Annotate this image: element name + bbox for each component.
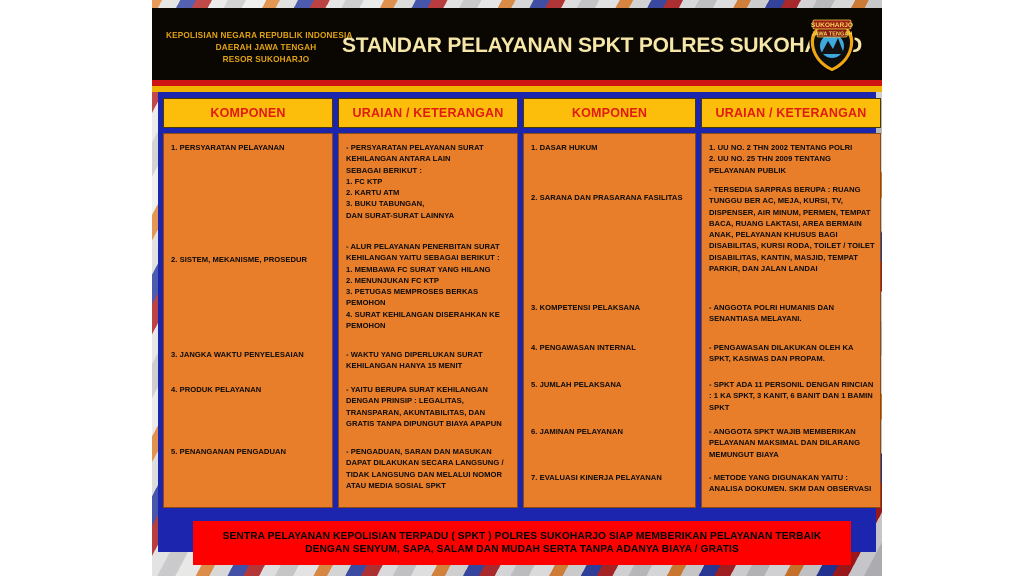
list-item: - YAITU BERUPA SURAT KEHILANGAN DENGAN P… <box>346 384 512 429</box>
list-item: 3. KOMPETENSI PELAKSANA <box>531 302 690 313</box>
footer-line-1: SENTRA PELAYANAN KEPOLISIAN TERPADU ( SP… <box>223 531 822 542</box>
list-item: - WAKTU YANG DIPERLUKAN SURAT KEHILANGAN… <box>346 349 512 372</box>
list-item: - ANGGOTA POLRI HUMANIS DAN SENANTIASA M… <box>709 302 875 325</box>
kop-line-2: DAERAH JAWA TENGAH <box>166 42 366 54</box>
list-item: 1. DASAR HUKUM <box>531 142 690 153</box>
header-bar: KEPOLISIAN NEGARA REPUBLIK INDONESIA DAE… <box>152 8 882 80</box>
list-item: - METODE YANG DIGUNAKAN YAITU : ANALISA … <box>709 472 875 495</box>
list-item: 7. EVALUASI KINERJA PELAYANAN <box>531 472 690 483</box>
list-item: 2. SISTEM, MEKANISME, PROSEDUR <box>171 254 327 265</box>
list-item: 3. JANGKA WAKTU PENYELESAIAN <box>171 349 327 360</box>
list-item: 4. PRODUK PELAYANAN <box>171 384 327 395</box>
column-header-uraian-left: URAIAN / KETERANGAN <box>338 98 518 128</box>
list-item: 5. JUMLAH PELAKSANA <box>531 379 690 390</box>
column-header-komponen-left: KOMPONEN <box>163 98 333 128</box>
list-item: - SPKT ADA 11 PERSONIL DENGAN RINCIAN : … <box>709 379 875 413</box>
footer-line-2: DENGAN SENYUM, SAPA, SALAM DAN MUDAH SER… <box>305 544 739 555</box>
svg-text:JAWA TENGAH: JAWA TENGAH <box>812 31 853 37</box>
list-item: 5. PENANGANAN PENGADUAN <box>171 446 327 457</box>
list-item: 2. SARANA DAN PRASARANA FASILITAS <box>531 192 690 203</box>
list-item: - TERSEDIA SARPRAS BERUPA : RUANG TUNGGU… <box>709 184 875 274</box>
list-item: 1. UU NO. 2 THN 2002 TENTANG POLRI 2. UU… <box>709 142 875 176</box>
column-header-komponen-right: KOMPONEN <box>523 98 696 128</box>
list-item: - ALUR PELAYANAN PENERBITAN SURAT KEHILA… <box>346 241 512 331</box>
cell-komponen-right: 1. DASAR HUKUM 2. SARANA DAN PRASARANA F… <box>523 133 696 508</box>
page-title: STANDAR PELAYANAN SPKT POLRES SUKOHARJO <box>342 34 792 58</box>
kop-line-3: RESOR SUKOHARJO <box>166 54 366 66</box>
kop-line-1: KEPOLISIAN NEGARA REPUBLIK INDONESIA <box>166 30 366 42</box>
list-item: 6. JAMINAN PELAYANAN <box>531 426 690 437</box>
cell-uraian-left: - PERSYARATAN PELAYANAN SURAT KEHILANGAN… <box>338 133 518 508</box>
list-item: - PENGAWASAN DILAKUKAN OLEH KA SPKT, KAS… <box>709 342 875 365</box>
column-header-uraian-right: URAIAN / KETERANGAN <box>701 98 881 128</box>
list-item: - PENGADUAN, SARAN DAN MASUKAN DAPAT DIL… <box>346 446 512 491</box>
list-item: - ANGGOTA SPKT WAJIB MEMBERIKAN PELAYANA… <box>709 426 875 460</box>
footer-banner: SENTRA PELAYANAN KEPOLISIAN TERPADU ( SP… <box>193 521 851 565</box>
slide-canvas: SUKOHARJO KEPOLISIAN NEGARA REPUBLIK IND… <box>0 0 1024 576</box>
police-badge-logo: SUKOHARJO JAWA TENGAH <box>800 14 864 76</box>
list-item: 4. PENGAWASAN INTERNAL <box>531 342 690 353</box>
institution-kop: KEPOLISIAN NEGARA REPUBLIK INDONESIA DAE… <box>166 30 366 66</box>
list-item: 1. PERSYARATAN PELAYANAN <box>171 142 327 153</box>
cell-uraian-right: 1. UU NO. 2 THN 2002 TENTANG POLRI 2. UU… <box>701 133 881 508</box>
list-item: - PERSYARATAN PELAYANAN SURAT KEHILANGAN… <box>346 142 512 221</box>
svg-text:SUKOHARJO: SUKOHARJO <box>811 22 853 29</box>
standards-table: KOMPONEN URAIAN / KETERANGAN KOMPONEN UR… <box>163 98 871 508</box>
cell-komponen-left: 1. PERSYARATAN PELAYANAN 2. SISTEM, MEKA… <box>163 133 333 508</box>
